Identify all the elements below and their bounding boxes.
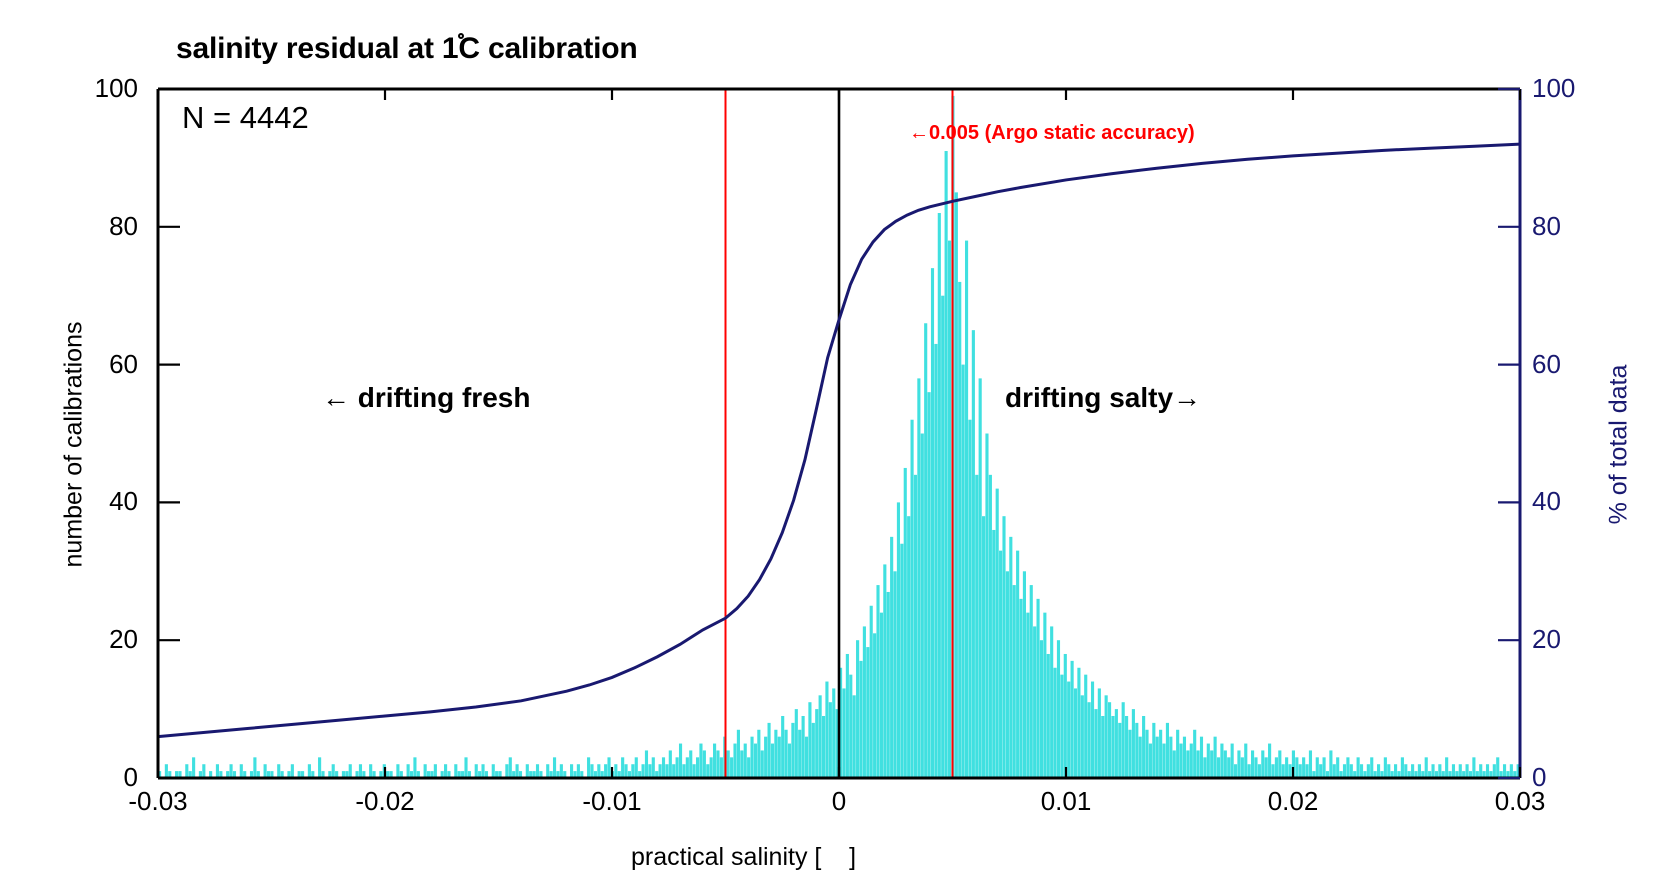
histogram-bar xyxy=(318,757,321,778)
histogram-bar xyxy=(822,716,825,778)
histogram-bar xyxy=(904,468,907,778)
histogram-bar xyxy=(832,688,835,778)
histogram-bar xyxy=(1323,757,1326,778)
histogram-bar xyxy=(264,764,267,778)
x-axis-label: practical salinity [ ] xyxy=(631,843,856,872)
x-tick-label: -0.01 xyxy=(542,786,682,817)
histogram-bar xyxy=(999,551,1002,778)
histogram-bar xyxy=(1431,764,1434,778)
annotation-argo-accuracy: ←0.005 (Argo static accuracy) xyxy=(909,122,1195,145)
histogram-bar xyxy=(1316,757,1319,778)
histogram-bar xyxy=(185,764,188,778)
histogram-bar xyxy=(880,613,883,778)
histogram-bar xyxy=(720,757,723,778)
histogram-bar xyxy=(1329,750,1332,778)
y-axis-label-right: % of total data xyxy=(1605,235,1634,655)
histogram-bar xyxy=(669,750,672,778)
histogram-bar xyxy=(1357,757,1360,778)
histogram-bar xyxy=(1278,750,1281,778)
histogram-bar xyxy=(1207,744,1210,778)
histogram-bar xyxy=(1101,716,1104,778)
histogram-bar xyxy=(396,764,399,778)
histogram-bar xyxy=(332,764,335,778)
histogram-bar xyxy=(1224,750,1227,778)
histogram-bar xyxy=(1493,764,1496,778)
histogram-bar xyxy=(1047,654,1050,778)
histogram-bar xyxy=(785,730,788,778)
histogram-bar xyxy=(1176,730,1179,778)
histogram-bar xyxy=(1411,764,1414,778)
title-suffix: C calibration xyxy=(458,32,637,65)
histogram-bar xyxy=(791,723,794,778)
histogram-bar xyxy=(253,757,256,778)
histogram-bar xyxy=(931,268,934,778)
chart-figure: salinity residual at 1C calibration N = … xyxy=(0,0,1659,888)
y-axis-label-left: number of calibrations xyxy=(60,235,89,655)
histogram-bar xyxy=(635,757,638,778)
histogram-bar xyxy=(1064,654,1067,778)
histogram-bar xyxy=(369,764,372,778)
histogram-bar xyxy=(985,434,988,779)
histogram-bar xyxy=(1401,757,1404,778)
histogram-bar xyxy=(1019,599,1022,778)
histogram-bar xyxy=(631,764,634,778)
y-tick-label-right: 0 xyxy=(1532,762,1622,793)
y-tick-label-right: 40 xyxy=(1532,486,1622,517)
histogram-bar xyxy=(645,750,648,778)
histogram-bar xyxy=(604,764,607,778)
histogram-bar xyxy=(1336,757,1339,778)
histogram-bar xyxy=(856,640,859,778)
histogram-bar xyxy=(349,764,352,778)
histogram-bar xyxy=(693,764,696,778)
histogram-bar xyxy=(866,647,869,778)
histogram-bar xyxy=(1142,716,1145,778)
histogram-bar xyxy=(662,757,665,778)
histogram-bar xyxy=(1237,750,1240,778)
histogram-bar xyxy=(812,723,815,778)
histogram-bar xyxy=(689,750,692,778)
histogram-bar xyxy=(706,764,709,778)
histogram-bar xyxy=(710,757,713,778)
histogram-bar xyxy=(921,434,924,779)
histogram-bar xyxy=(900,544,903,778)
histogram-bar xyxy=(802,716,805,778)
histogram-bar xyxy=(958,282,961,778)
histogram-bar xyxy=(795,709,798,778)
histogram-bar xyxy=(893,571,896,778)
histogram-bar xyxy=(230,764,233,778)
y-tick-label-right: 80 xyxy=(1532,211,1622,242)
histogram-bar xyxy=(846,654,849,778)
histogram-bar xyxy=(941,296,944,778)
histogram-bar xyxy=(1288,764,1291,778)
histogram-bar xyxy=(1197,750,1200,778)
histogram-bar xyxy=(1200,737,1203,778)
histogram-bar xyxy=(240,764,243,778)
histogram-bar xyxy=(1094,709,1097,778)
histogram-bar xyxy=(1346,757,1349,778)
histogram-bar xyxy=(672,764,675,778)
x-tick-label: -0.02 xyxy=(315,786,455,817)
histogram-bar xyxy=(757,730,760,778)
histogram-bar xyxy=(648,764,651,778)
histogram-bar xyxy=(842,688,845,778)
histogram-bar xyxy=(1152,723,1155,778)
histogram-bar xyxy=(1169,737,1172,778)
histogram-bar xyxy=(454,764,457,778)
histogram-bar xyxy=(1227,757,1230,778)
histogram-bar xyxy=(526,764,529,778)
histogram-bar xyxy=(887,592,890,778)
histogram-bar xyxy=(982,516,985,778)
y-tick-label-left: 20 xyxy=(48,624,138,655)
histogram-bar xyxy=(624,764,627,778)
histogram-bar xyxy=(676,757,679,778)
histogram-bar xyxy=(740,750,743,778)
histogram-bar xyxy=(1302,757,1305,778)
histogram-bar xyxy=(1254,757,1257,778)
histogram-bar xyxy=(614,764,617,778)
histogram-bar xyxy=(1404,764,1407,778)
histogram-bar xyxy=(761,750,764,778)
histogram-bar xyxy=(955,192,958,778)
histogram-bar xyxy=(621,757,624,778)
histogram-bar xyxy=(1486,764,1489,778)
histogram-bar xyxy=(815,709,818,778)
histogram-bar xyxy=(1203,757,1206,778)
histogram-bar xyxy=(216,764,219,778)
histogram-bar xyxy=(597,764,600,778)
histogram-bar xyxy=(1275,757,1278,778)
histogram-bar xyxy=(996,489,999,778)
histogram-bar xyxy=(819,695,822,778)
histogram-bar xyxy=(1479,764,1482,778)
histogram-bar xyxy=(1122,702,1125,778)
title-degree-number: 1 xyxy=(442,32,459,65)
histogram-bar xyxy=(1183,737,1186,778)
histogram-bar xyxy=(1081,695,1084,778)
histogram-bar xyxy=(788,744,791,778)
histogram-bar xyxy=(1186,750,1189,778)
histogram-bar xyxy=(1438,764,1441,778)
histogram-bar xyxy=(876,585,879,778)
histogram-bar xyxy=(536,764,539,778)
histogram-bar xyxy=(747,757,750,778)
histogram-bar xyxy=(1319,764,1322,778)
histogram-bar xyxy=(727,750,730,778)
histogram-bar xyxy=(1115,709,1118,778)
histogram-bar xyxy=(1180,744,1183,778)
histogram-bar xyxy=(1118,723,1121,778)
histogram-bar xyxy=(730,757,733,778)
histogram-bar xyxy=(165,764,168,778)
histogram-bar xyxy=(1193,730,1196,778)
histogram-bar xyxy=(754,744,757,778)
y-tick-label-left: 40 xyxy=(48,486,138,517)
histogram-bar xyxy=(291,764,294,778)
histogram-bar xyxy=(1220,744,1223,778)
histogram-bar xyxy=(1074,688,1077,778)
histogram-bar xyxy=(590,764,593,778)
histogram-bar xyxy=(972,330,975,778)
sample-count-label: N = 4442 xyxy=(182,100,309,136)
histogram-bar xyxy=(1285,757,1288,778)
title-prefix: salinity residual at xyxy=(176,32,442,65)
histogram-bar xyxy=(1248,764,1251,778)
histogram-bar xyxy=(703,750,706,778)
histogram-bar xyxy=(1173,750,1176,778)
histogram-bar xyxy=(1299,764,1302,778)
histogram-bar xyxy=(1445,757,1448,778)
histogram-bar xyxy=(192,757,195,778)
histogram-bar xyxy=(1077,668,1080,778)
histogram-bar xyxy=(1091,682,1094,778)
y-tick-label-left: 80 xyxy=(48,211,138,242)
y-tick-label-left: 0 xyxy=(48,762,138,793)
histogram-bar xyxy=(1350,764,1353,778)
histogram-bar xyxy=(642,764,645,778)
histogram-bar xyxy=(546,764,549,778)
histogram-bar xyxy=(965,241,968,778)
y-tick-label-left: 100 xyxy=(48,73,138,104)
histogram-bar xyxy=(1217,757,1220,778)
histogram-bar xyxy=(444,764,447,778)
histogram-bar xyxy=(1282,764,1285,778)
histogram-bar xyxy=(914,475,917,778)
histogram-bar xyxy=(1244,744,1247,778)
histogram-bar xyxy=(764,737,767,778)
histogram-bar xyxy=(1128,730,1131,778)
histogram-bar xyxy=(682,764,685,778)
histogram-bar xyxy=(849,675,852,778)
histogram-bar xyxy=(1040,640,1043,778)
histogram-bar xyxy=(1370,757,1373,778)
histogram-bar xyxy=(1067,682,1070,778)
histogram-bar xyxy=(505,764,508,778)
histogram-bar xyxy=(1268,744,1271,778)
histogram-bar xyxy=(1026,613,1029,778)
histogram-bar xyxy=(1466,764,1469,778)
histogram-bar xyxy=(1503,764,1506,778)
histogram-bar xyxy=(652,757,655,778)
histogram-bar xyxy=(1162,744,1165,778)
histogram-bar xyxy=(1139,737,1142,778)
histogram-bar xyxy=(1384,757,1387,778)
histogram-bar xyxy=(992,530,995,778)
histogram-bar xyxy=(771,744,774,778)
histogram-bar xyxy=(1156,737,1159,778)
histogram-bar xyxy=(659,764,662,778)
histogram-bar xyxy=(516,764,519,778)
histogram-bar xyxy=(679,744,682,778)
histogram-bar xyxy=(1214,737,1217,778)
histogram-bar xyxy=(413,757,416,778)
histogram-bar xyxy=(1054,668,1057,778)
histogram-bar xyxy=(1009,537,1012,778)
histogram-bar xyxy=(1105,695,1108,778)
histogram-bar xyxy=(607,757,610,778)
y-tick-label-left: 60 xyxy=(48,349,138,380)
histogram-bar xyxy=(917,378,920,778)
histogram-bar xyxy=(863,626,866,778)
histogram-bar xyxy=(696,757,699,778)
histogram-bar xyxy=(1496,757,1499,778)
y-tick-label-right: 100 xyxy=(1532,73,1622,104)
histogram-bar xyxy=(934,344,937,778)
histogram-bar xyxy=(1472,757,1475,778)
y-tick-label-right: 20 xyxy=(1532,624,1622,655)
histogram-bar xyxy=(962,365,965,778)
histogram-bar xyxy=(577,764,580,778)
histogram-bar xyxy=(1002,516,1005,778)
histogram-bar xyxy=(1166,723,1169,778)
histogram-bar xyxy=(945,151,948,778)
histogram-bar xyxy=(911,420,914,778)
histogram-bar xyxy=(859,661,862,778)
histogram-bar xyxy=(1098,688,1101,778)
histogram-bar xyxy=(1367,764,1370,778)
histogram-bar xyxy=(989,475,992,778)
histogram-bar xyxy=(587,757,590,778)
histogram-bar xyxy=(928,392,931,778)
histogram-bar xyxy=(1159,730,1162,778)
histogram-bar xyxy=(1234,764,1237,778)
histogram-bar xyxy=(733,744,736,778)
histogram-bar xyxy=(1125,716,1128,778)
degree-ring-icon xyxy=(458,33,464,39)
histogram-bar xyxy=(938,213,941,778)
histogram-bar xyxy=(202,764,205,778)
histogram-bar xyxy=(737,730,740,778)
histogram-bar xyxy=(475,764,478,778)
histogram-bar xyxy=(1145,730,1148,778)
histogram-bar xyxy=(308,764,311,778)
histogram-bar xyxy=(1394,764,1397,778)
histogram-bar xyxy=(1510,764,1513,778)
histogram-bar xyxy=(744,744,747,778)
histogram-bar xyxy=(873,633,876,778)
histogram-bar xyxy=(1295,757,1298,778)
histogram-bar xyxy=(1050,626,1053,778)
histogram-bar xyxy=(464,757,467,778)
histogram-bar xyxy=(968,420,971,778)
histogram-bar xyxy=(890,537,893,778)
histogram-bar xyxy=(1060,675,1063,778)
histogram-bar xyxy=(808,702,811,778)
degree-glyph: 1 xyxy=(442,32,459,66)
histogram-bar xyxy=(1071,661,1074,778)
histogram-bar xyxy=(1425,757,1428,778)
histogram-bar xyxy=(948,241,951,778)
histogram-bar xyxy=(750,737,753,778)
histogram-bar xyxy=(1261,750,1264,778)
histogram-bar xyxy=(481,764,484,778)
histogram-bar xyxy=(277,764,280,778)
histogram-bar xyxy=(1459,764,1462,778)
x-tick-label: 0.01 xyxy=(996,786,1136,817)
histogram-bar xyxy=(1088,702,1091,778)
histogram-bar xyxy=(798,730,801,778)
histogram-bar xyxy=(1190,744,1193,778)
histogram-bar xyxy=(434,764,437,778)
x-tick-label: 0 xyxy=(769,786,909,817)
histogram-bar xyxy=(853,695,856,778)
histogram-bar xyxy=(897,502,900,778)
histogram-bar xyxy=(870,606,873,778)
histogram-bar xyxy=(1271,764,1274,778)
histogram-bar xyxy=(686,757,689,778)
x-tick-label: 0.02 xyxy=(1223,786,1363,817)
histogram-bar xyxy=(699,744,702,778)
histogram-bar xyxy=(1057,640,1060,778)
histogram-bar xyxy=(774,730,777,778)
annotation-drifting-salty: drifting salty→ xyxy=(1005,382,1201,414)
histogram-bar xyxy=(1016,551,1019,778)
histogram-bar xyxy=(1241,757,1244,778)
histogram-bar xyxy=(1231,744,1234,778)
histogram-bar xyxy=(1111,716,1114,778)
histogram-bar xyxy=(924,323,927,778)
histogram-bar xyxy=(509,757,512,778)
histogram-bar xyxy=(1043,613,1046,778)
histogram-bar xyxy=(829,702,832,778)
histogram-bar xyxy=(560,764,563,778)
histogram-bar xyxy=(1030,585,1033,778)
histogram-bar xyxy=(1006,571,1009,778)
y-tick-label-right: 60 xyxy=(1532,349,1622,380)
histogram-bar xyxy=(781,716,784,778)
histogram-bar xyxy=(1084,675,1087,778)
histogram-bar xyxy=(1013,585,1016,778)
histogram-bar xyxy=(778,737,781,778)
histogram-bar xyxy=(1108,702,1111,778)
histogram-bar xyxy=(1033,626,1036,778)
histogram-bar xyxy=(359,764,362,778)
histogram-bar xyxy=(1418,764,1421,778)
histogram-bar xyxy=(1377,764,1380,778)
histogram-bar xyxy=(1265,757,1268,778)
histogram-bar xyxy=(1036,599,1039,778)
histogram-bar xyxy=(716,750,719,778)
histogram-bar xyxy=(1452,764,1455,778)
histogram-bar xyxy=(907,516,910,778)
histogram-bar xyxy=(665,764,668,778)
histogram-bar xyxy=(553,757,556,778)
histogram-bar xyxy=(805,737,808,778)
histogram-bar xyxy=(1251,750,1254,778)
histogram-bar xyxy=(975,475,978,778)
histogram-bar xyxy=(1135,723,1138,778)
histogram-bar xyxy=(492,764,495,778)
histogram-bar xyxy=(713,744,716,778)
histogram-bar xyxy=(1305,764,1308,778)
histogram-bar xyxy=(1343,764,1346,778)
annotation-drifting-fresh: ← drifting fresh xyxy=(322,382,530,414)
histogram-bar xyxy=(1360,764,1363,778)
histogram-bar xyxy=(1149,744,1152,778)
histogram-bar xyxy=(825,682,828,778)
histogram-bar xyxy=(1210,750,1213,778)
chart-title: salinity residual at 1C calibration xyxy=(176,32,638,66)
histogram-bar xyxy=(883,564,886,778)
histogram-bar xyxy=(979,378,982,778)
histogram-bar xyxy=(1309,750,1312,778)
histogram-bar xyxy=(1023,571,1026,778)
histogram-bar xyxy=(1258,764,1261,778)
histogram-bar xyxy=(1387,764,1390,778)
histogram-bar xyxy=(1333,764,1336,778)
